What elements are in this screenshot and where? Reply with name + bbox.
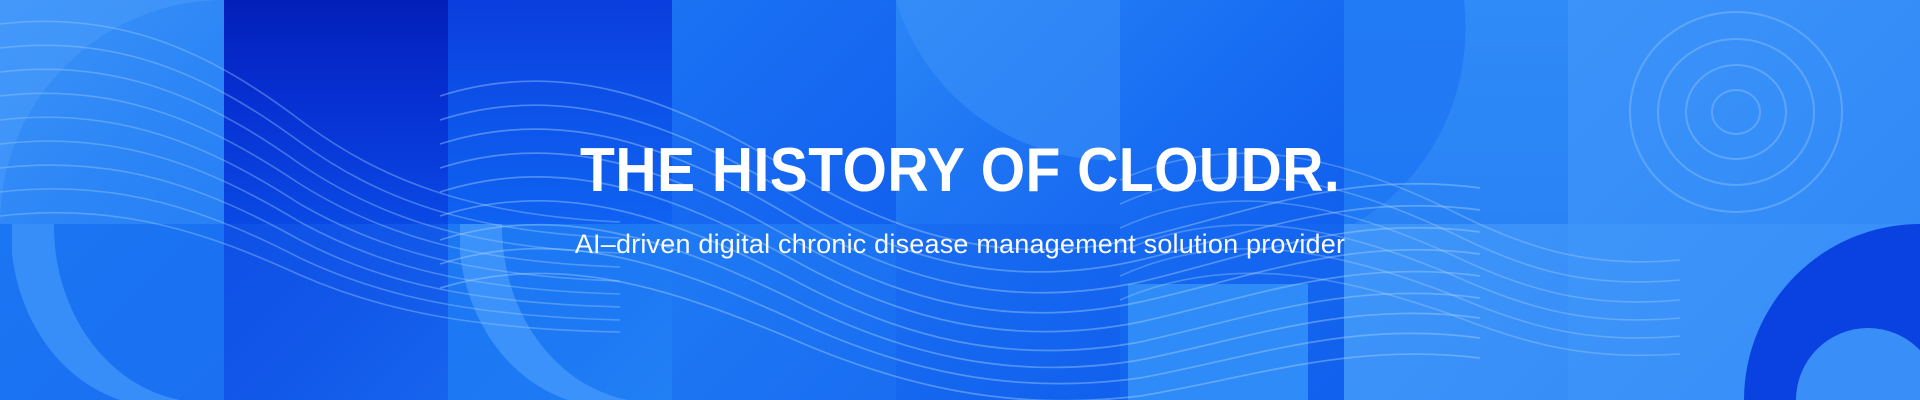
banner-text-block: THE HISTORY OF CLOUDR. AI–driven digital… (0, 0, 1920, 400)
page-subtitle: AI–driven digital chronic disease manage… (575, 228, 1345, 260)
page-banner: THE HISTORY OF CLOUDR. AI–driven digital… (0, 0, 1920, 400)
page-title: THE HISTORY OF CLOUDR. (580, 140, 1340, 202)
